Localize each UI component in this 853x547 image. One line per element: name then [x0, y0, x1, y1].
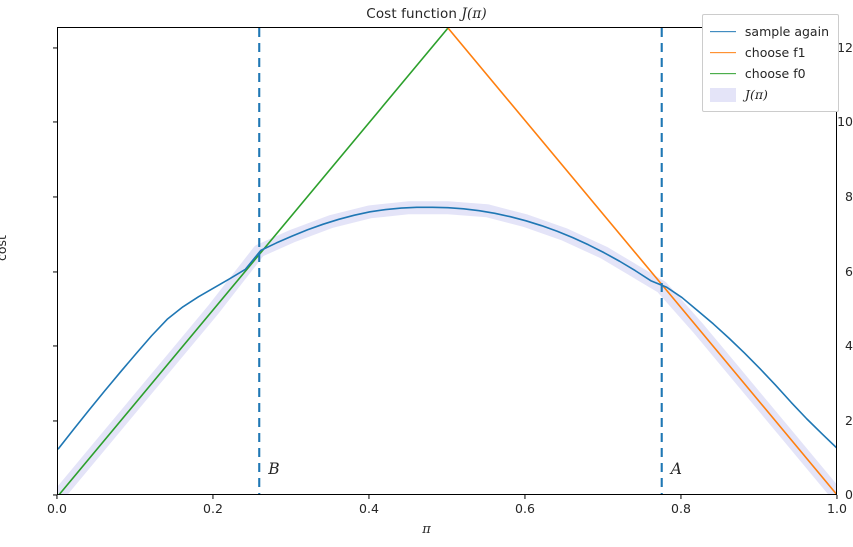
legend-swatch-green-icon [710, 67, 736, 81]
annotation-b: B [268, 460, 279, 478]
xtick-label-0.4: 0.4 [359, 503, 379, 516]
xtick-mark-0.6 [524, 495, 525, 499]
y-axis-label: cost [0, 235, 9, 261]
xtick-mark-0.8 [680, 495, 681, 499]
xtick-label-0.6: 0.6 [515, 503, 535, 516]
legend-label-paren-close: ) [763, 87, 768, 102]
choose-f0-line [58, 28, 448, 495]
xtick-label-1.0: 1.0 [827, 503, 847, 516]
xtick-mark-1.0 [836, 495, 837, 499]
xtick-mark-0.4 [368, 495, 369, 499]
sample-again-line [58, 207, 837, 449]
legend-label-pi: π [755, 87, 763, 102]
legend-label-sample-again: sample again [745, 24, 829, 39]
chart-title-pi: π [472, 6, 481, 22]
chart-legend: sample again choose f1 choose f0 J(π) [702, 14, 839, 112]
xtick-mark-0.2 [212, 495, 213, 499]
legend-item-sample-again[interactable]: sample again [710, 21, 829, 42]
xtick-label-0.2: 0.2 [203, 503, 223, 516]
xtick-label-0.8: 0.8 [671, 503, 691, 516]
legend-swatch-band-icon [710, 88, 736, 102]
xtick-mark-0.0 [56, 495, 57, 499]
legend-label-choose-f1: choose f1 [745, 45, 806, 60]
annotation-a: A [671, 460, 682, 478]
legend-swatch-blue-icon [710, 25, 736, 39]
legend-swatch-orange-icon [710, 46, 736, 60]
chart-title-paren-close: ) [481, 6, 486, 22]
j-pi-band [58, 208, 837, 495]
xtick-label-0.0: 0.0 [47, 503, 67, 516]
legend-item-choose-f0[interactable]: choose f0 [710, 63, 829, 84]
legend-item-choose-f1[interactable]: choose f1 [710, 42, 829, 63]
legend-label-j-pi: J(π) [745, 87, 768, 102]
legend-item-j-pi[interactable]: J(π) [710, 84, 829, 105]
x-axis-label-pi: π [422, 522, 431, 537]
x-axis-label: π [0, 522, 853, 537]
figure-canvas: Cost function J(π) 12 10 8 6 4 2 0 cost … [0, 0, 853, 547]
chart-title-text: Cost function [366, 6, 461, 22]
legend-label-choose-f0: choose f0 [745, 66, 806, 81]
